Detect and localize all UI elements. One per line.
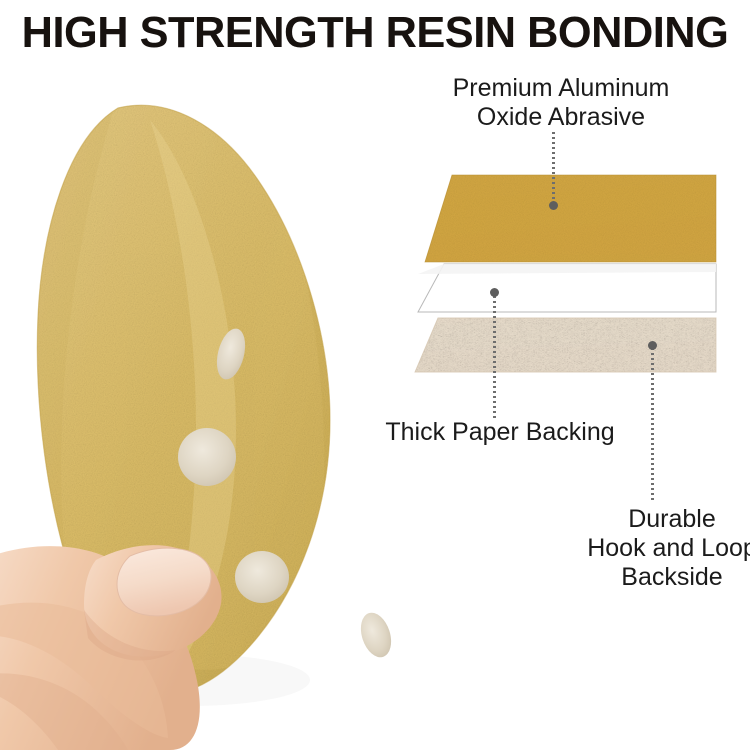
leader-line-paper [493,296,496,418]
callout-line: Thick Paper Backing [350,418,650,447]
exploded-layer-stack [400,160,740,390]
page-title: HIGH STRENGTH RESIN BONDING [6,8,745,58]
leader-dot-abrasive [549,201,558,210]
paper-layer [418,264,716,312]
hook-loop-layer [400,310,740,380]
leader-dot-paper [490,288,499,297]
callout-label-hookloop: Durable Hook and Loop Backside [537,505,750,592]
callout-label-abrasive: Premium Aluminum Oxide Abrasive [411,74,711,132]
callout-line: Hook and Loop [537,534,750,563]
leader-dot-hookloop [648,341,657,350]
abrasive-layer [400,160,740,280]
callout-line: Durable [537,505,750,534]
leader-line-hookloop [651,348,654,500]
callout-line: Premium Aluminum [411,74,711,103]
disc-hole [235,551,289,603]
hook-loop-layer-texture [400,310,740,380]
disc-hole [356,609,397,661]
callout-line: Oxide Abrasive [411,103,711,132]
callout-label-paper: Thick Paper Backing [350,418,650,447]
callout-line: Backside [537,563,750,592]
disc-hole [178,428,236,486]
infographic-canvas: HIGH STRENGTH RESIN BONDING [0,0,750,750]
leader-line-abrasive [552,132,555,204]
